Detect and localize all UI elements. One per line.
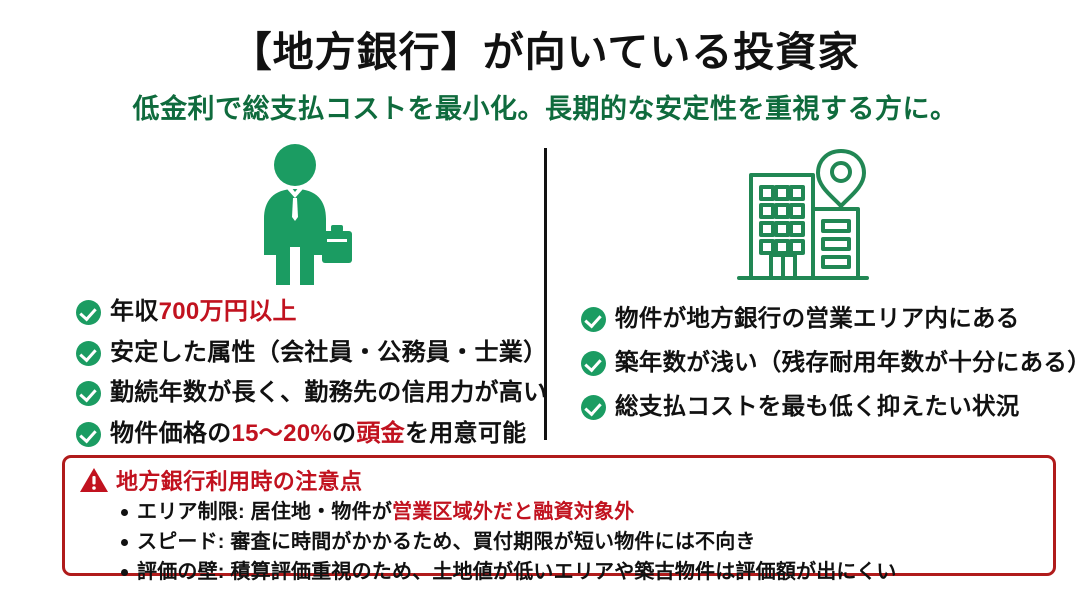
check-circle-icon (76, 300, 101, 325)
list-item: 安定した属性（会社員・公務員・士業） (76, 337, 536, 369)
list-item-label: 安定した属性（会社員・公務員・士業） (110, 337, 547, 369)
list-item-label: エリア制限: 居住地・物件が営業区域外だと融資対象外 (137, 499, 634, 525)
list-item: 勤続年数が長く、勤務先の信用力が高い (76, 377, 536, 409)
list-item: 評価の壁: 積算評価重視のため、土地値が低いエリアや築古物件は評価額が出にくい (121, 559, 1043, 585)
list-item-label: スピード: 審査に時間がかかるため、買付期限が短い物件には不向き (137, 529, 756, 555)
warning-header: 地方銀行利用時の注意点 (79, 464, 362, 496)
warning-list: エリア制限: 居住地・物件が営業区域外だと融資対象外 スピード: 審査に時間がか… (121, 499, 1043, 589)
check-circle-icon (76, 422, 101, 447)
left-criteria-list: 年収700万円以上 安定した属性（会社員・公務員・士業） 勤続年数が長く、勤務先… (76, 296, 536, 459)
bullet-dot-icon (121, 569, 128, 576)
businessman-icon (243, 143, 365, 288)
check-circle-icon (76, 381, 101, 406)
list-item: 総支払コストを最も低く抑えたい状況 (581, 391, 1061, 422)
list-item: 年収700万円以上 (76, 296, 536, 328)
bullet-dot-icon (121, 509, 128, 516)
list-item-label: 物件が地方銀行の営業エリア内にある (615, 303, 1020, 334)
list-item-label: 築年数が浅い（残存耐用年数が十分にある） (615, 347, 1090, 378)
infographic-root: 【地方銀行】が向いている投資家 低金利で総支払コストを最小化。長期的な安定性を重… (0, 0, 1090, 592)
check-circle-icon (581, 307, 606, 332)
list-item-label: 評価の壁: 積算評価重視のため、土地値が低いエリアや築古物件は評価額が出にくい (137, 559, 897, 585)
check-circle-icon (581, 395, 606, 420)
warning-triangle-icon (79, 467, 109, 494)
warning-title: 地方銀行利用時の注意点 (116, 464, 362, 496)
page-subtitle: 低金利で総支払コストを最小化。長期的な安定性を重視する方に。 (0, 94, 1090, 125)
list-item-label: 年収700万円以上 (110, 296, 297, 328)
bullet-dot-icon (121, 539, 128, 546)
list-item: スピード: 審査に時間がかかるため、買付期限が短い物件には不向き (121, 529, 1043, 555)
list-item: 築年数が浅い（残存耐用年数が十分にある） (581, 347, 1061, 378)
page-title: 【地方銀行】が向いている投資家 (0, 30, 1090, 75)
list-item-label: 物件価格の15〜20%の頭金を用意可能 (110, 418, 526, 450)
list-item: 物件が地方銀行の営業エリア内にある (581, 303, 1061, 334)
office-building-location-icon (733, 143, 873, 289)
list-item-label: 総支払コストを最も低く抑えたい状況 (615, 391, 1020, 422)
right-criteria-list: 物件が地方銀行の営業エリア内にある 築年数が浅い（残存耐用年数が十分にある） 総… (581, 303, 1061, 435)
check-circle-icon (581, 351, 606, 376)
list-item-label: 勤続年数が長く、勤務先の信用力が高い (110, 377, 547, 409)
warning-panel: 地方銀行利用時の注意点 エリア制限: 居住地・物件が営業区域外だと融資対象外 ス… (62, 455, 1056, 576)
list-item: 物件価格の15〜20%の頭金を用意可能 (76, 418, 536, 450)
check-circle-icon (76, 341, 101, 366)
list-item: エリア制限: 居住地・物件が営業区域外だと融資対象外 (121, 499, 1043, 525)
